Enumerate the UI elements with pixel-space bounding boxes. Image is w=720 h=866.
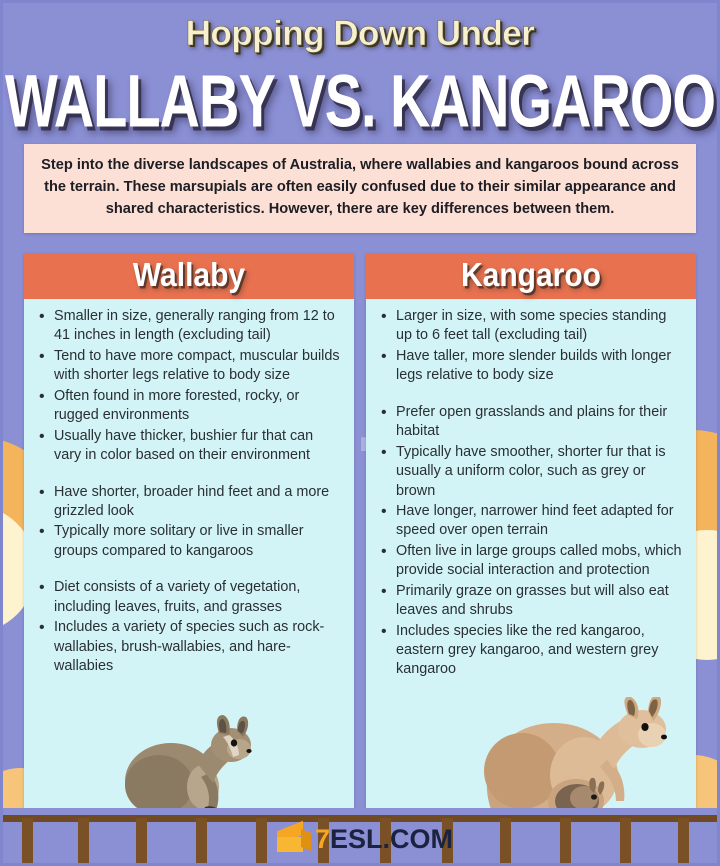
column-body-wallaby: Smaller in size, generally ranging from … bbox=[24, 299, 354, 853]
list-item: Prefer open grasslands and plains for th… bbox=[394, 403, 686, 442]
logo-wordmark: 7ESL.COM bbox=[315, 826, 453, 853]
list-item: Tend to have more compact, muscular buil… bbox=[52, 347, 344, 386]
fence-post bbox=[500, 818, 511, 866]
list-item: Typically more solitary or live in small… bbox=[52, 522, 344, 561]
column-kangaroo: Kangaroo Larger in size, with some speci… bbox=[366, 253, 696, 853]
list-item: Diet consists of a variety of vegetation… bbox=[52, 578, 344, 617]
column-header-kangaroo: Kangaroo bbox=[366, 253, 696, 299]
list-item: Larger in size, with some species standi… bbox=[394, 307, 686, 346]
fence-post bbox=[78, 818, 89, 866]
column-body-kangaroo: Larger in size, with some species standi… bbox=[366, 299, 696, 853]
intro-paragraph: Step into the diverse landscapes of Aust… bbox=[24, 144, 696, 233]
list-item: Typically have smoother, shorter fur tha… bbox=[394, 443, 686, 501]
fence-post bbox=[256, 818, 267, 866]
list-item: Often live in large groups called mobs, … bbox=[394, 542, 686, 581]
bullet-list-kangaroo: Larger in size, with some species standi… bbox=[372, 307, 686, 680]
list-item: Includes species like the red kangaroo, … bbox=[394, 622, 686, 680]
list-item: Often found in more forested, rocky, or … bbox=[52, 387, 344, 426]
list-item: Usually have thicker, bushier fur that c… bbox=[52, 427, 344, 466]
column-header-wallaby: Wallaby bbox=[24, 253, 354, 299]
column-wallaby: Wallaby Smaller in size, generally rangi… bbox=[24, 253, 354, 853]
fence-post bbox=[620, 818, 631, 866]
fence-post bbox=[560, 818, 571, 866]
column-title-kangaroo: Kangaroo bbox=[461, 257, 601, 295]
fence-rail bbox=[0, 815, 720, 822]
column-title-wallaby: Wallaby bbox=[133, 257, 245, 295]
list-item: Smaller in size, generally ranging from … bbox=[52, 307, 344, 346]
list-item: Primarily graze on grasses but will also… bbox=[394, 582, 686, 621]
fence-post bbox=[22, 818, 33, 866]
list-item: Have longer, narrower hind feet adapted … bbox=[394, 502, 686, 541]
infographic-poster: 7ESL.COM Hopping Down Under WALLABY VS. … bbox=[0, 0, 720, 866]
list-item: Have taller, more slender builds with lo… bbox=[394, 347, 686, 386]
bullet-list-wallaby: Smaller in size, generally ranging from … bbox=[30, 307, 344, 676]
page-title: WALLABY VS. KANGAROO bbox=[0, 58, 720, 144]
logo-seven: 7 bbox=[315, 824, 330, 854]
logo-rest: ESL.COM bbox=[330, 824, 453, 854]
fence-post bbox=[196, 818, 207, 866]
comparison-columns: Wallaby Smaller in size, generally rangi… bbox=[24, 253, 696, 853]
cube-icon bbox=[277, 822, 311, 856]
site-logo[interactable]: 7ESL.COM bbox=[277, 822, 453, 856]
fence-post bbox=[678, 818, 689, 866]
kicker-title: Hopping Down Under bbox=[0, 14, 720, 54]
list-item: Have shorter, broader hind feet and a mo… bbox=[52, 483, 344, 522]
list-item: Includes a variety of species such as ro… bbox=[52, 618, 344, 676]
fence-post bbox=[136, 818, 147, 866]
